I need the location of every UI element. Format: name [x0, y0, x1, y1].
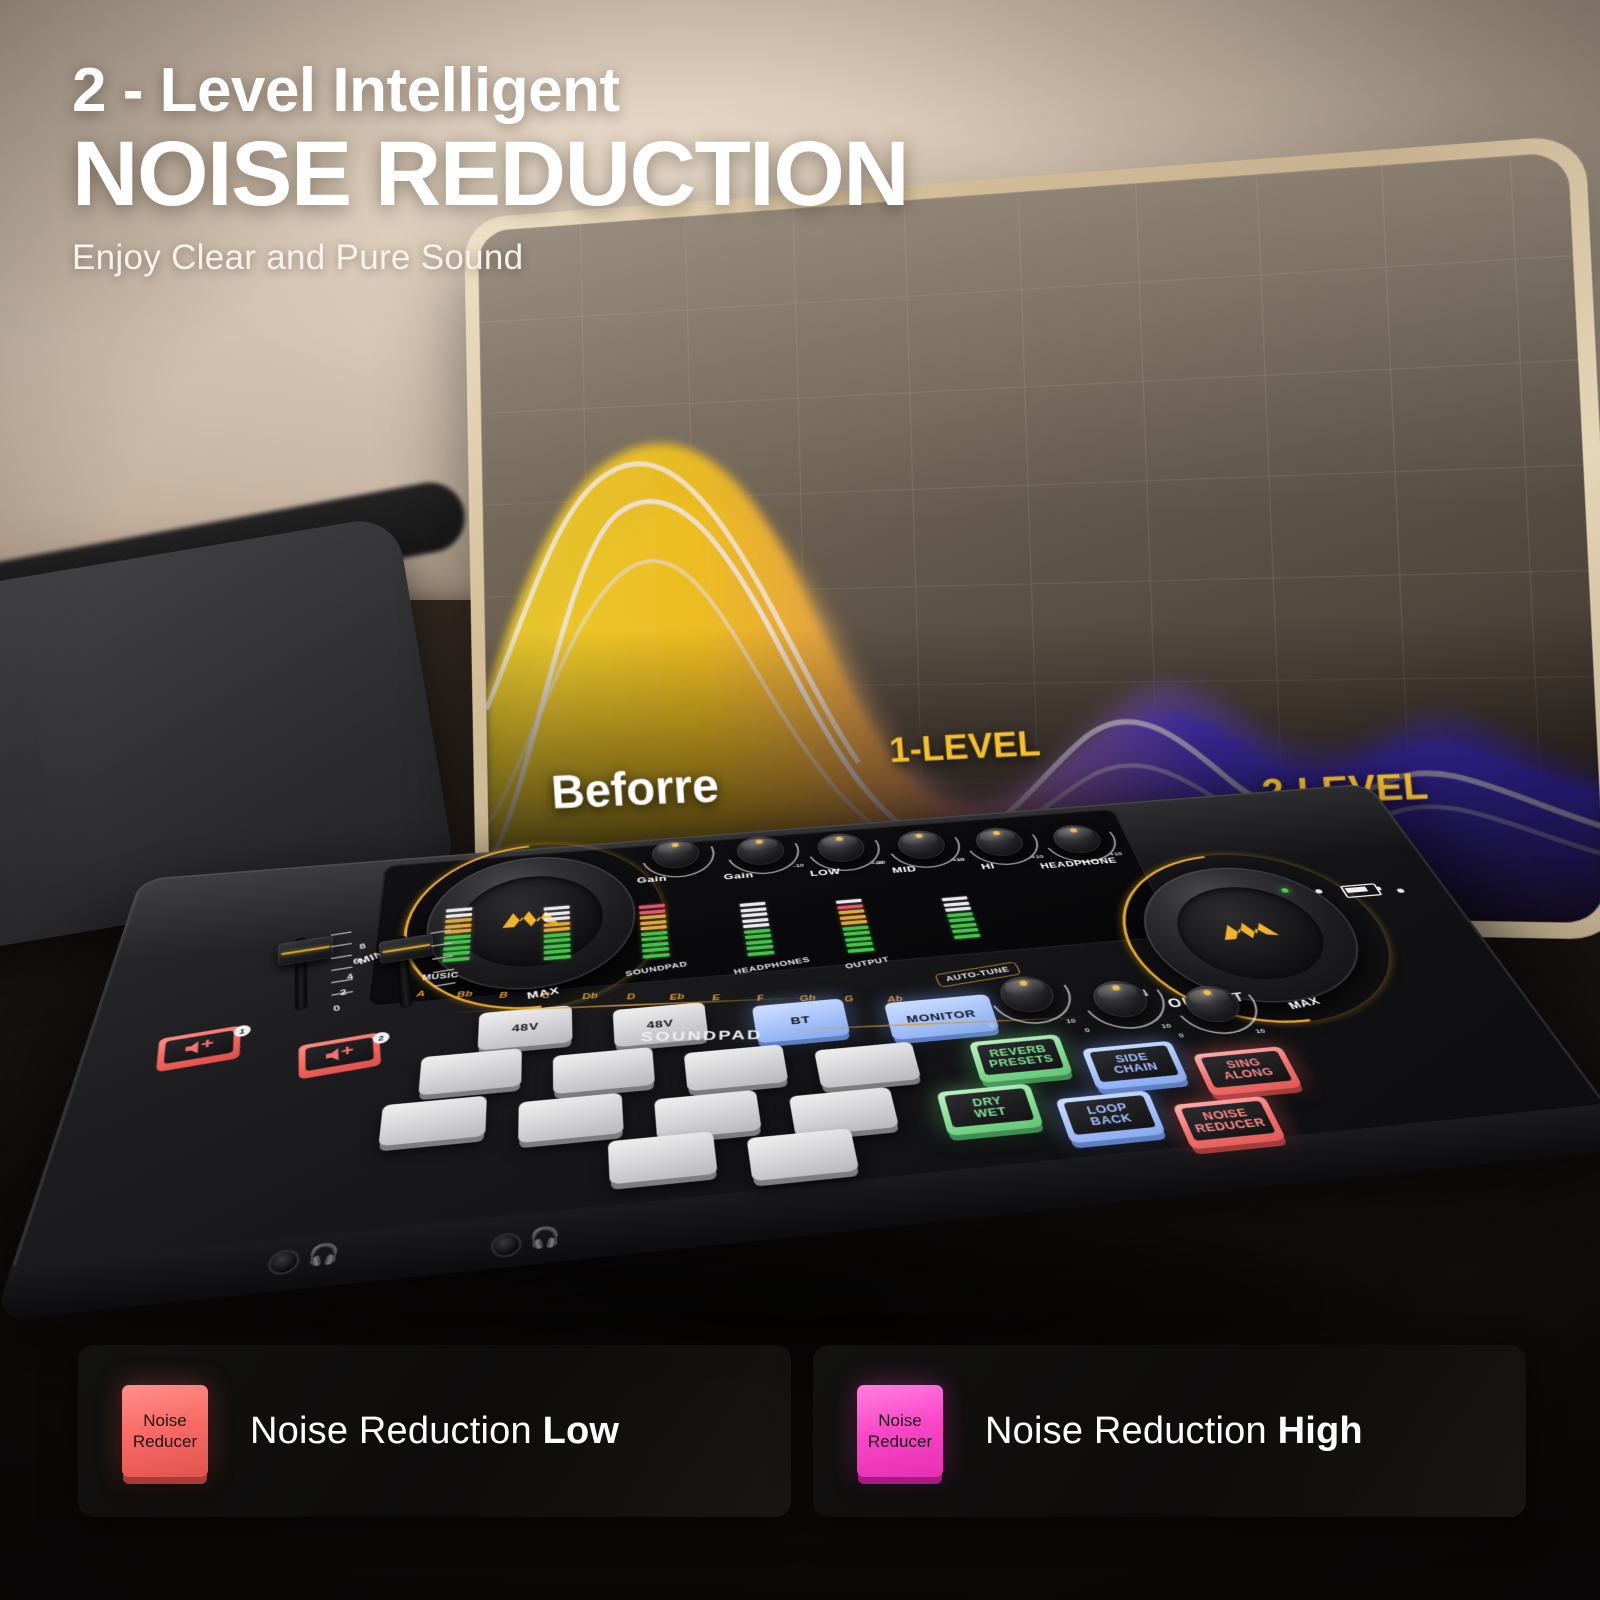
- note-label-4: Db: [582, 991, 598, 1001]
- noise-reducer-key-low[interactable]: Noise Reducer: [122, 1385, 208, 1477]
- chart-label-before: Beforre: [549, 756, 720, 819]
- legend-card-low: Noise Reducer Noise Reduction Low: [78, 1345, 791, 1517]
- key-line1: Noise: [878, 1410, 921, 1431]
- note-label-3: C: [542, 991, 550, 1000]
- fx-pad-loop-back[interactable]: LOOPBACK: [1055, 1090, 1166, 1143]
- legend-high-bold: High: [1278, 1410, 1363, 1452]
- legend-low-normal: Noise Reduction: [250, 1410, 543, 1452]
- knob-headphone-tick: +10: [1109, 851, 1124, 857]
- knob-hi-label: HI: [980, 861, 996, 871]
- headphone-icon-1: 🎧: [306, 1240, 342, 1269]
- headline-line2: NOISE REDUCTION: [72, 128, 1052, 222]
- fx-pad-sing-along-label: SINGALONG: [1200, 1051, 1292, 1088]
- meter-soundpad: [639, 904, 670, 961]
- fx-pad-dry-wet-label: DRYWET: [944, 1088, 1034, 1127]
- headline-line1: 2 - Level Intelligent: [72, 60, 1052, 122]
- note-label-6: Eb: [669, 992, 685, 1002]
- headphone-icon-2: 🎧: [529, 1224, 561, 1252]
- soundpad-section-label: SOUNDPAD: [640, 1028, 762, 1045]
- fx-pad-loop-back-label: LOOPBACK: [1063, 1095, 1156, 1134]
- fx-pad-reverb-presets-label: REVERBPRESETS: [976, 1039, 1064, 1075]
- knob-mid-tick-min: -10: [874, 860, 886, 866]
- chart-label-level1: 1-LEVEL: [888, 722, 1042, 770]
- note-label-0: A: [416, 990, 425, 999]
- meter-channel-2: [544, 905, 571, 962]
- note-label-5: D: [627, 992, 636, 1001]
- note-label-1: Bb: [456, 990, 472, 1000]
- key-line2: Reducer: [868, 1431, 932, 1452]
- mute-button-2-face: [305, 1037, 374, 1071]
- note-label-10: G: [844, 995, 855, 1004]
- product-marketing-image: 2 - Level Intelligent NOISE REDUCTION En…: [0, 0, 1600, 1600]
- mute-speaker-icon: [322, 1043, 356, 1065]
- legend-cards: Noise Reducer Noise Reduction Low Noise …: [78, 1345, 1526, 1517]
- note-label-2: B: [499, 991, 508, 1000]
- fx-pad-reverb-presets[interactable]: REVERBPRESETS: [969, 1034, 1073, 1083]
- key-line1: Noise: [143, 1410, 186, 1431]
- legend-card-low-text: Noise Reduction Low: [250, 1410, 619, 1453]
- headline-subtitle: Enjoy Clear and Pure Sound: [72, 238, 1052, 278]
- legend-card-high: Noise Reducer Noise Reduction High: [813, 1345, 1526, 1517]
- knob-hi-tick-min: -10: [953, 857, 966, 863]
- mute-button-1-face: [163, 1030, 234, 1064]
- legend-low-bold: Low: [543, 1410, 620, 1452]
- knob-hi-tick-max: +10: [1030, 854, 1045, 860]
- mute-speaker-icon: [181, 1036, 216, 1058]
- fx-pad-side-chain[interactable]: SIDECHAIN: [1081, 1041, 1189, 1090]
- noise-reducer-key-high[interactable]: Noise Reducer: [857, 1385, 943, 1477]
- legend-card-high-text: Noise Reduction High: [985, 1410, 1363, 1453]
- knob-low-tick-min: -10: [793, 863, 805, 869]
- headline-block: 2 - Level Intelligent NOISE REDUCTION En…: [72, 60, 1052, 278]
- key-line2: Reducer: [133, 1431, 197, 1452]
- fx-pad-noise-reducer-label: NOISEREDUCER: [1181, 1101, 1276, 1141]
- legend-high-normal: Noise Reduction: [985, 1410, 1278, 1452]
- fx-knob-1-tick-max: 10: [1065, 1017, 1077, 1024]
- fx-pad-side-chain-label: SIDECHAIN: [1089, 1045, 1179, 1082]
